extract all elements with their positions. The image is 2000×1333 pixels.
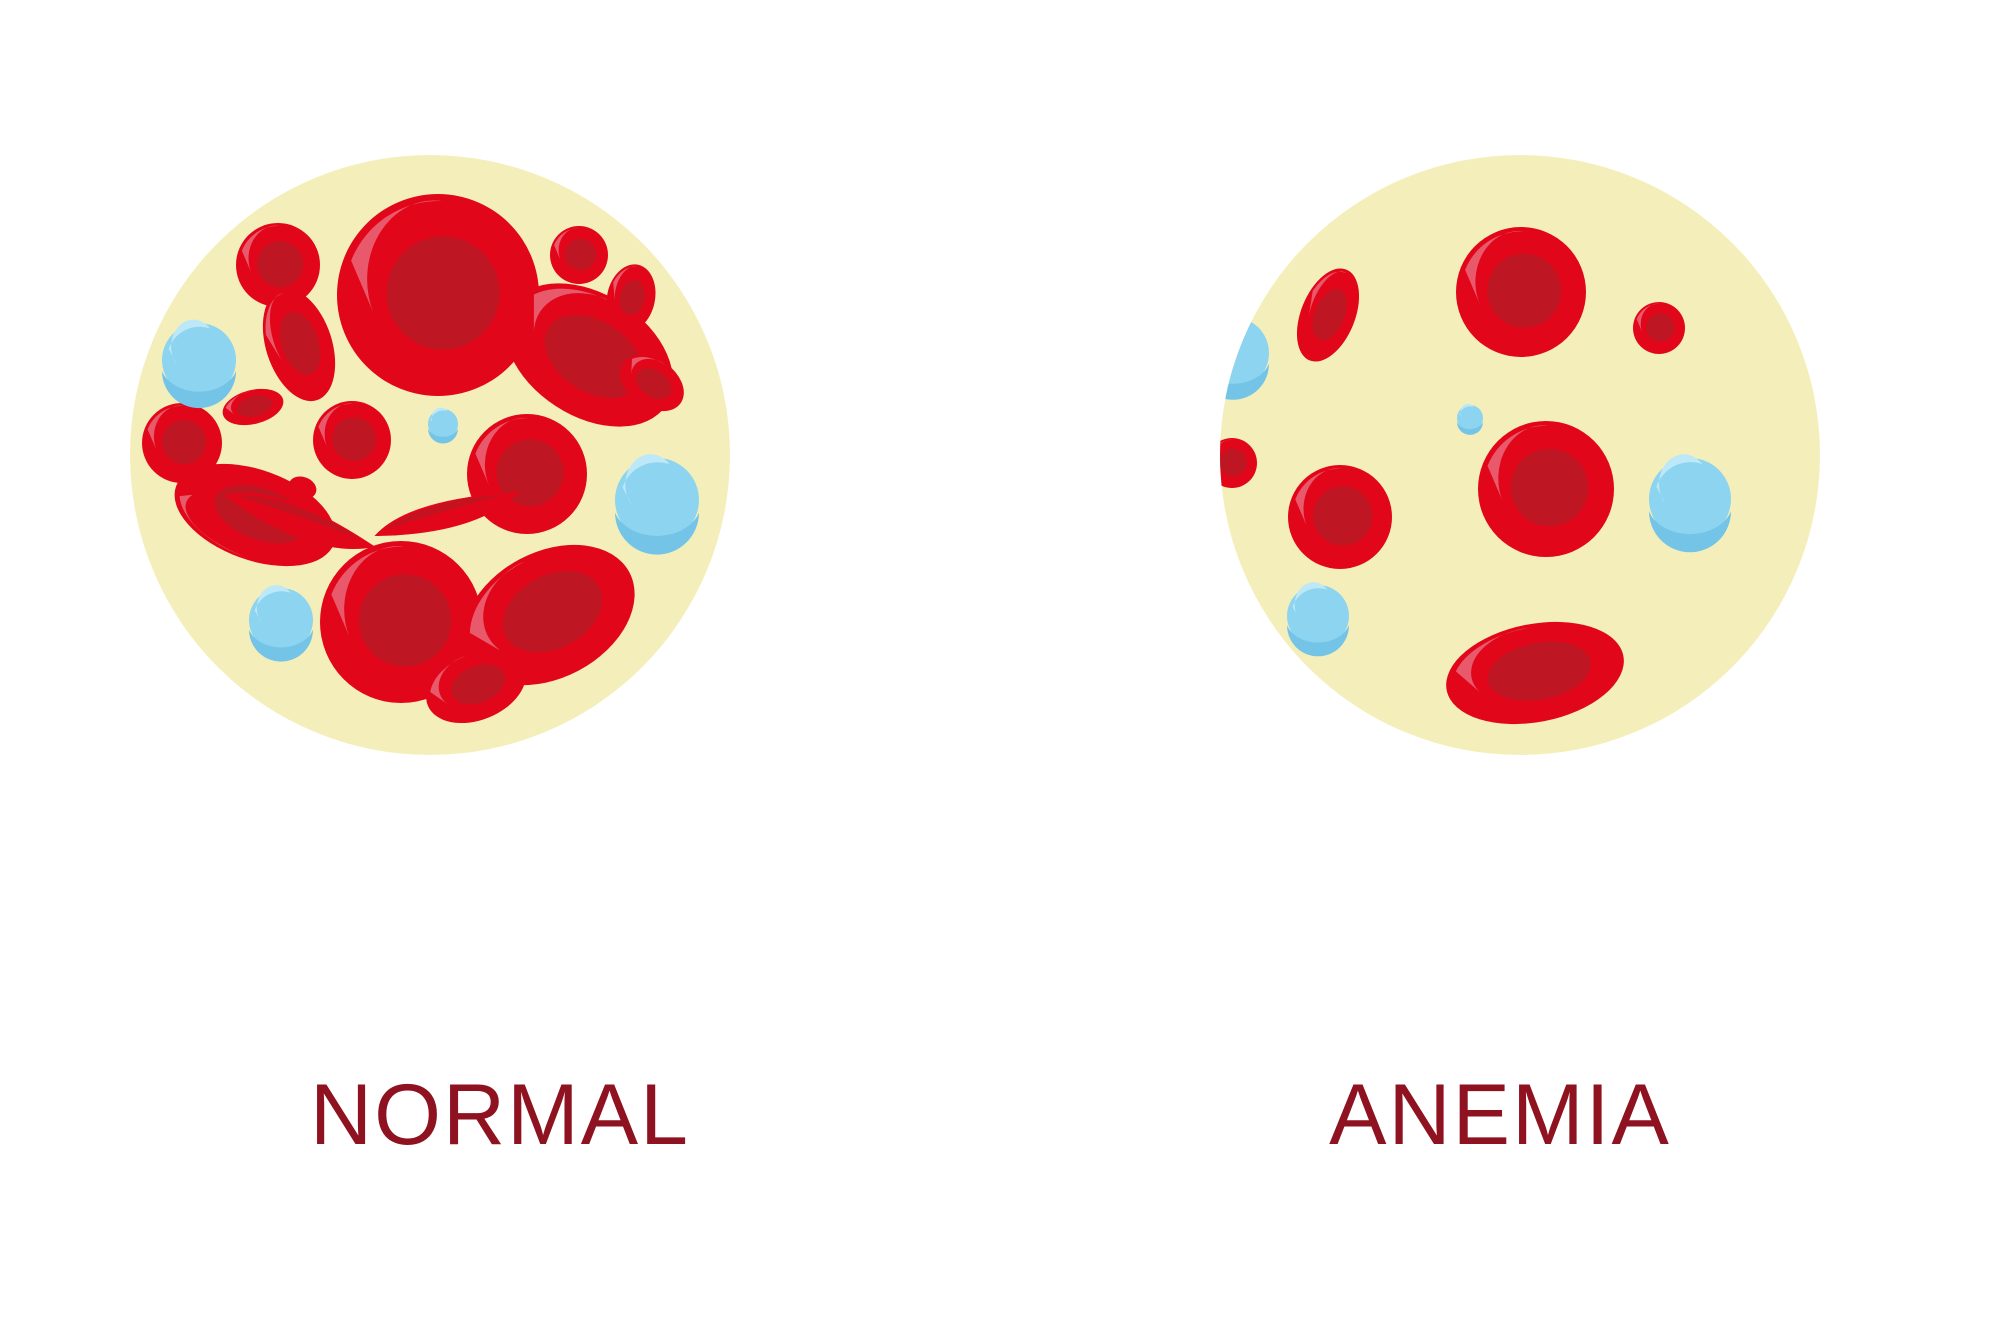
red-blood-cell-rbc-large-top xyxy=(337,194,539,396)
panel-label-normal: NORMAL xyxy=(0,1072,1000,1158)
rbc-inner-dimple xyxy=(1220,449,1248,477)
rbc-inner-dimple xyxy=(257,241,303,287)
anemia-blood-diagram xyxy=(1000,0,2000,1010)
panel-label-anemia: ANEMIA xyxy=(1000,1072,2000,1158)
rbc-inner-dimple xyxy=(1487,254,1561,328)
normal-blood-diagram xyxy=(0,0,1000,1010)
rbc-inner-dimple xyxy=(565,239,596,270)
rbc-inner-dimple xyxy=(1646,313,1674,341)
red-blood-cell-rbc-tiny-left xyxy=(1207,438,1257,488)
red-blood-cell-rbc-tiny-topright xyxy=(550,226,608,284)
red-blood-cell-rbc-mid-center xyxy=(313,401,391,479)
red-blood-cell-rbc-top-center xyxy=(1456,227,1586,357)
illustration-stage: NORMAL ANEMIA xyxy=(0,0,2000,1333)
rbc-inner-dimple xyxy=(359,574,451,666)
rbc-inner-dimple xyxy=(386,236,499,349)
red-blood-cell-rbc-mid-right xyxy=(467,414,587,534)
panel-anemia: ANEMIA xyxy=(1000,0,2000,1333)
panel-normal: NORMAL xyxy=(0,0,1000,1333)
red-blood-cell-rbc-mid-left xyxy=(1288,465,1392,569)
wbc-gloss xyxy=(1203,314,1243,358)
red-blood-cell-rbc-tiny-right xyxy=(1633,302,1685,354)
rbc-inner-dimple xyxy=(1511,449,1589,527)
rbc-inner-dimple xyxy=(1313,486,1372,545)
rbc-inner-dimple xyxy=(162,420,206,464)
rbc-inner-dimple xyxy=(332,417,376,461)
red-blood-cell-rbc-mid-right xyxy=(1478,421,1614,557)
